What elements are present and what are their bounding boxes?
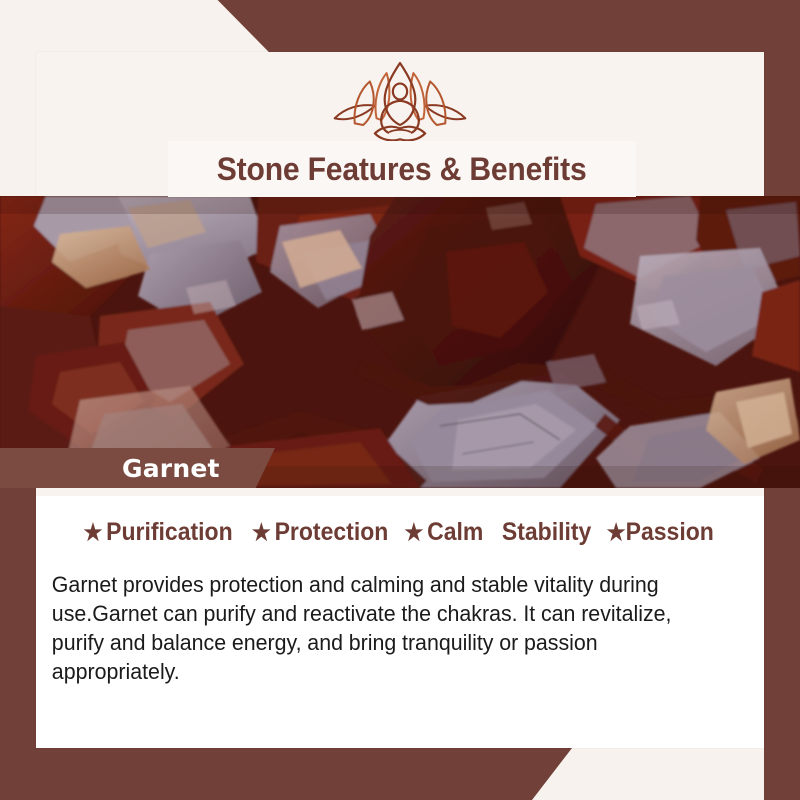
benefit-keyword-list: ★ Purification ★ Protection ★ Calm Stabi… <box>48 518 748 547</box>
benefit-keyword-label: Protection <box>275 518 389 547</box>
stone-name: Garnet <box>122 454 220 483</box>
star-icon: ★ <box>405 521 424 544</box>
benefit-keyword: ★ Passion <box>607 518 714 547</box>
benefit-keyword-label: Purification <box>106 518 233 547</box>
poster-sheet: BUDDHA STONES Stone Features & Benefits <box>36 52 764 748</box>
decor-frame-top-right <box>0 0 800 52</box>
product-feature-poster: BUDDHA STONES Stone Features & Benefits <box>0 0 800 800</box>
stone-description-text: Garnet provides protection and calming a… <box>48 570 713 687</box>
decor-frame-bottom-left <box>0 748 800 800</box>
lotus-meditating-figure-icon <box>316 58 484 146</box>
benefit-keyword: Stability <box>502 518 591 547</box>
benefit-keyword: ★ Calm <box>405 518 484 547</box>
benefit-keyword-label: Calm <box>428 518 484 547</box>
star-icon: ★ <box>252 521 271 544</box>
benefit-keyword-label: Passion <box>626 518 714 547</box>
title-ribbon: Stone Features & Benefits <box>168 141 636 197</box>
benefit-keyword-label: Stability <box>502 518 591 547</box>
star-icon: ★ <box>607 521 626 544</box>
stone-name-banner: Garnet <box>0 448 275 488</box>
star-icon: ★ <box>84 521 103 544</box>
page-title: Stone Features & Benefits <box>217 151 587 188</box>
garnet-crystal-photo <box>0 196 800 488</box>
benefit-keyword: ★ Protection <box>252 518 388 547</box>
description-card: ★ Purification ★ Protection ★ Calm Stabi… <box>36 496 764 748</box>
benefit-keyword: ★ Purification <box>84 518 233 547</box>
